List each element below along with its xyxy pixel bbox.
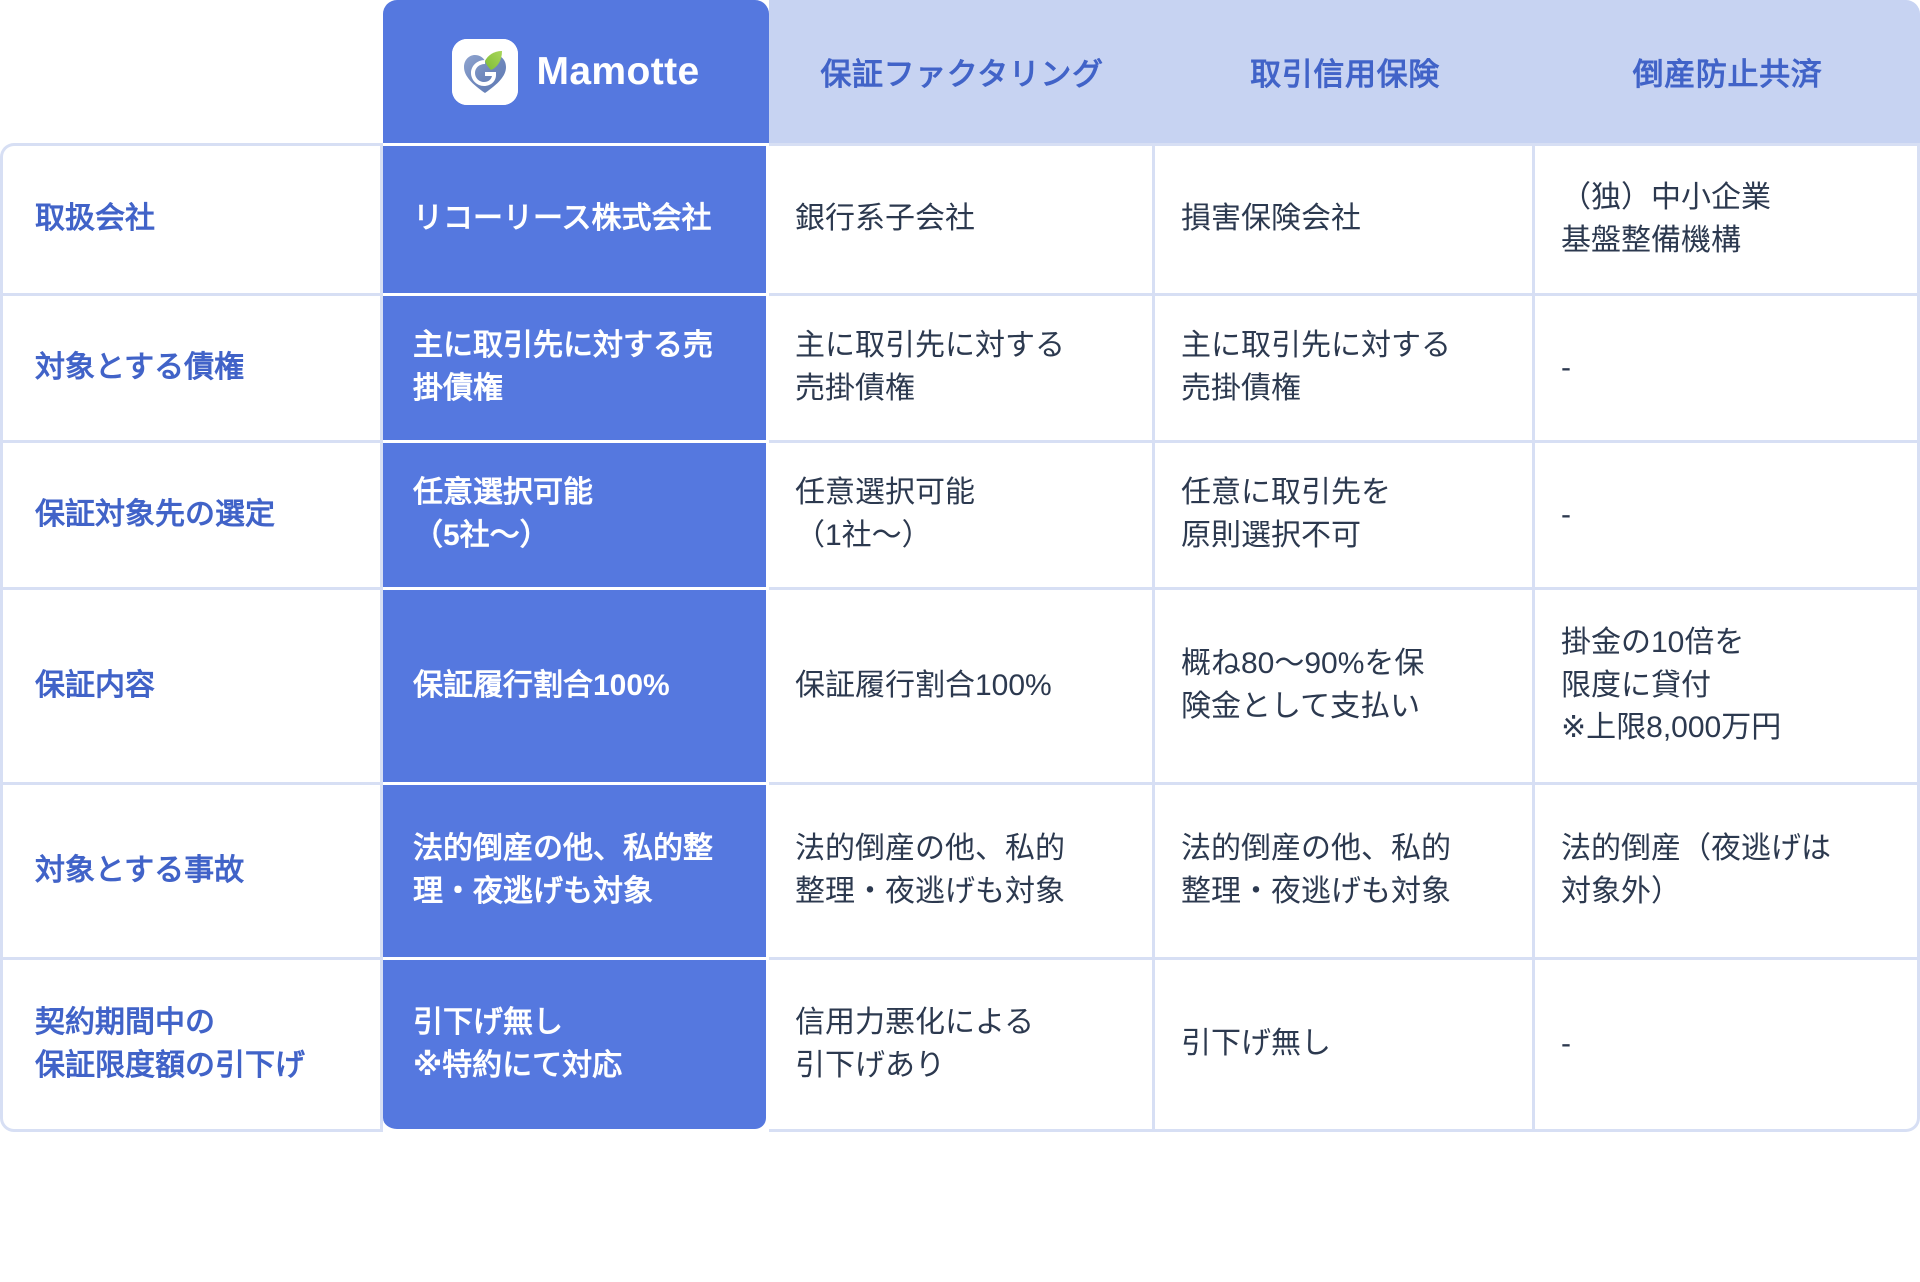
header-corner-blank xyxy=(0,0,383,143)
table-header: Mamotte 保証ファクタリング 取引信用保険 倒産防止共済 xyxy=(0,0,1920,143)
row-label-guarantee-content: 保証内容 xyxy=(0,587,383,782)
cell-kyosai-covered-incidents: 法的倒産（夜逃げは 対象外） xyxy=(1535,782,1920,957)
cell-kyosai-guarantee-target-selection: - xyxy=(1535,440,1920,587)
table-row: 保証内容 保証履行割合100% 保証履行割合100% 概ね80〜90%を保 険金… xyxy=(0,587,1920,782)
cell-factoring-target-receivables: 主に取引先に対する 売掛債権 xyxy=(769,293,1155,440)
cell-mamotte-limit-reduction: 引下げ無し ※特約にて対応 xyxy=(383,957,769,1132)
cell-mamotte-covered-incidents: 法的倒産の他、私的整 理・夜逃げも対象 xyxy=(383,782,769,957)
cell-factoring-limit-reduction: 信用力悪化による 引下げあり xyxy=(769,957,1155,1132)
header-insurance: 取引信用保険 xyxy=(1155,0,1535,143)
brand-lockup: Mamotte xyxy=(383,39,769,105)
cell-insurance-handling-company: 損害保険会社 xyxy=(1155,143,1535,293)
cell-factoring-handling-company: 銀行系子会社 xyxy=(769,143,1155,293)
cell-insurance-covered-incidents: 法的倒産の他、私的 整理・夜逃げも対象 xyxy=(1155,782,1535,957)
table-row: 保証対象先の選定 任意選択可能 （5社〜） 任意選択可能 （1社〜） 任意に取引… xyxy=(0,440,1920,587)
header-mamotte: Mamotte xyxy=(383,0,769,143)
comparison-table: Mamotte 保証ファクタリング 取引信用保険 倒産防止共済 取扱会社 リコー… xyxy=(0,0,1920,1132)
cell-kyosai-limit-reduction: - xyxy=(1535,957,1920,1132)
mamotte-heart-leaf-logo-icon xyxy=(452,39,518,105)
table-row: 対象とする債権 主に取引先に対する売 掛債権 主に取引先に対する 売掛債権 主に… xyxy=(0,293,1920,440)
cell-mamotte-guarantee-content: 保証履行割合100% xyxy=(383,587,769,782)
cell-factoring-guarantee-target-selection: 任意選択可能 （1社〜） xyxy=(769,440,1155,587)
cell-kyosai-guarantee-content: 掛金の10倍を 限度に貸付 ※上限8,000万円 xyxy=(1535,587,1920,782)
cell-insurance-target-receivables: 主に取引先に対する 売掛債権 xyxy=(1155,293,1535,440)
cell-insurance-guarantee-content: 概ね80〜90%を保 険金として支払い xyxy=(1155,587,1535,782)
cell-mamotte-handling-company: リコーリース株式会社 xyxy=(383,143,769,293)
cell-kyosai-handling-company: （独）中小企業 基盤整備機構 xyxy=(1535,143,1920,293)
row-label-target-receivables: 対象とする債権 xyxy=(0,293,383,440)
comparison-table-container: Mamotte 保証ファクタリング 取引信用保険 倒産防止共済 取扱会社 リコー… xyxy=(0,0,1920,1282)
table-row: 契約期間中の 保証限度額の引下げ 引下げ無し ※特約にて対応 信用力悪化による … xyxy=(0,957,1920,1132)
cell-insurance-guarantee-target-selection: 任意に取引先を 原則選択不可 xyxy=(1155,440,1535,587)
header-kyosai: 倒産防止共済 xyxy=(1535,0,1920,143)
row-label-handling-company: 取扱会社 xyxy=(0,143,383,293)
cell-factoring-guarantee-content: 保証履行割合100% xyxy=(769,587,1155,782)
brand-name: Mamotte xyxy=(536,50,699,94)
cell-factoring-covered-incidents: 法的倒産の他、私的 整理・夜逃げも対象 xyxy=(769,782,1155,957)
table-row: 対象とする事故 法的倒産の他、私的整 理・夜逃げも対象 法的倒産の他、私的 整理… xyxy=(0,782,1920,957)
table-row: 取扱会社 リコーリース株式会社 銀行系子会社 損害保険会社 （独）中小企業 基盤… xyxy=(0,143,1920,293)
row-label-covered-incidents: 対象とする事故 xyxy=(0,782,383,957)
row-label-guarantee-target-selection: 保証対象先の選定 xyxy=(0,440,383,587)
row-label-limit-reduction: 契約期間中の 保証限度額の引下げ xyxy=(0,957,383,1132)
cell-kyosai-target-receivables: - xyxy=(1535,293,1920,440)
header-row: Mamotte 保証ファクタリング 取引信用保険 倒産防止共済 xyxy=(0,0,1920,143)
cell-insurance-limit-reduction: 引下げ無し xyxy=(1155,957,1535,1132)
table-body: 取扱会社 リコーリース株式会社 銀行系子会社 損害保険会社 （独）中小企業 基盤… xyxy=(0,143,1920,1132)
header-factoring: 保証ファクタリング xyxy=(769,0,1155,143)
cell-mamotte-target-receivables: 主に取引先に対する売 掛債権 xyxy=(383,293,769,440)
cell-mamotte-guarantee-target-selection: 任意選択可能 （5社〜） xyxy=(383,440,769,587)
